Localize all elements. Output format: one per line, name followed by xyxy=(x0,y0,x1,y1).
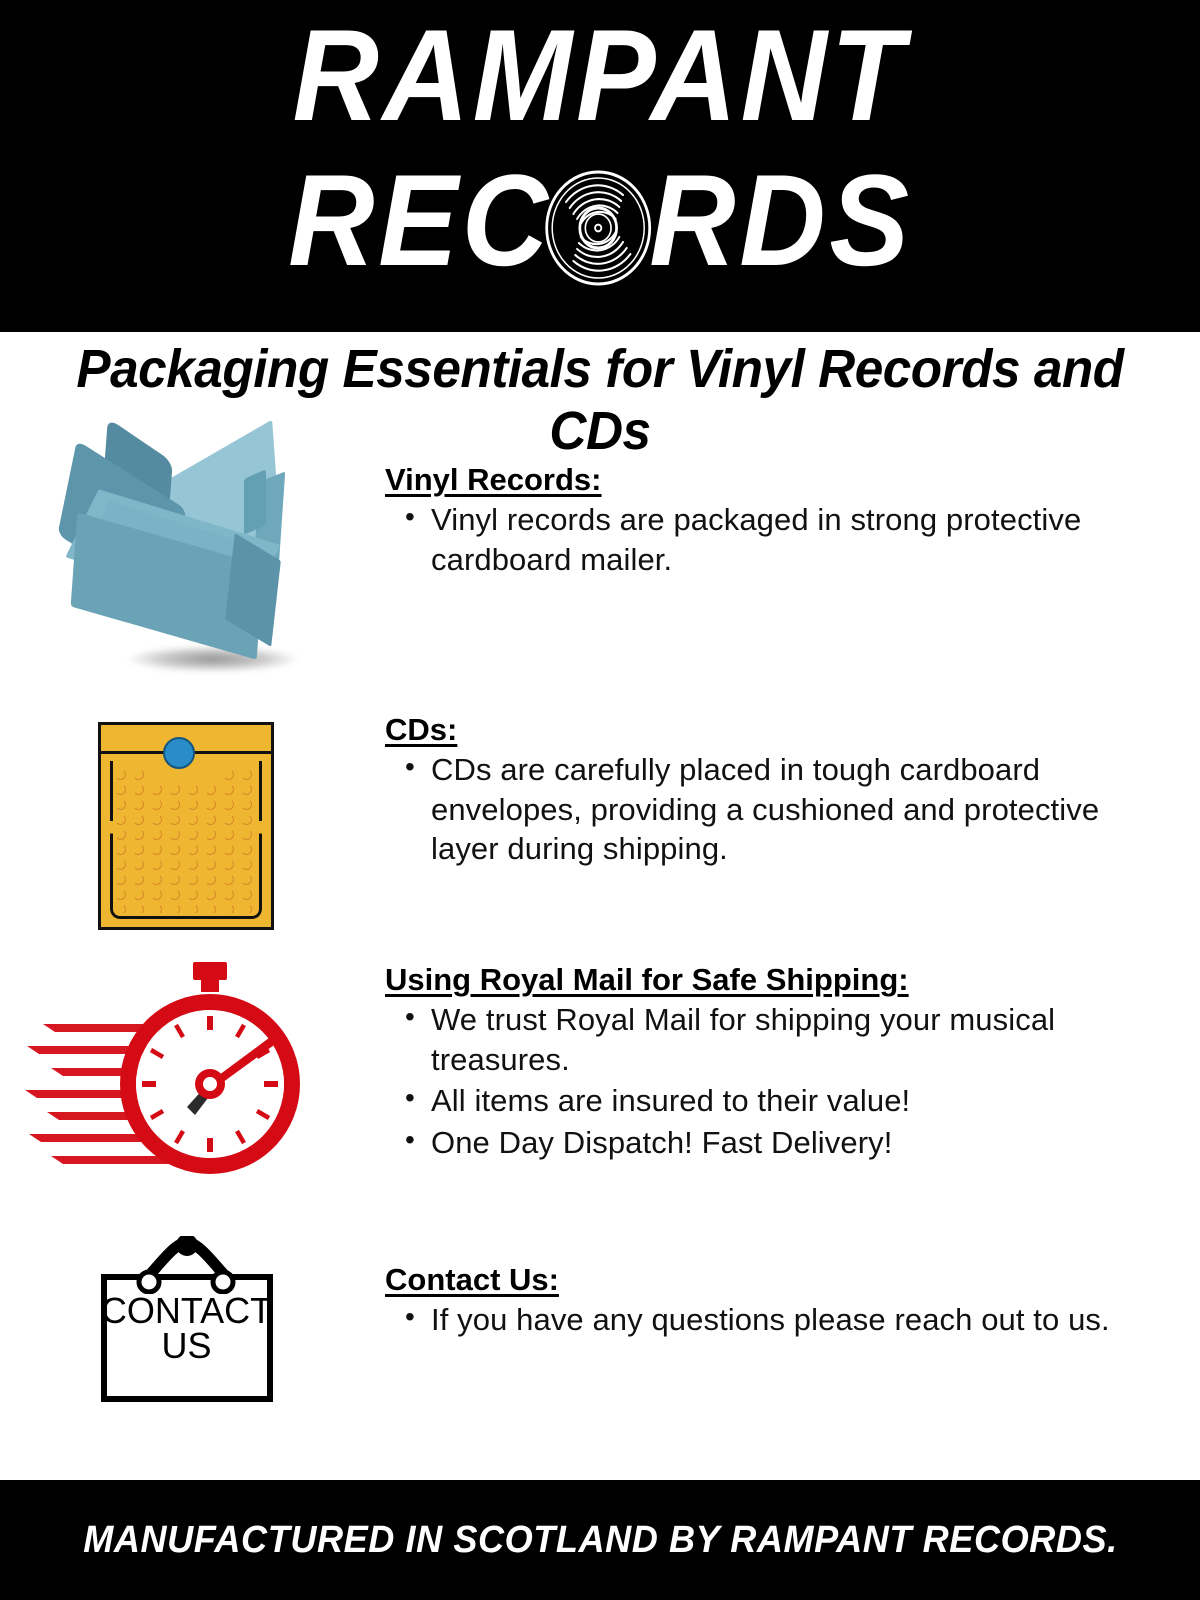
mailer-bubble-dot xyxy=(115,769,126,780)
list-item: Vinyl records are packaged in strong pro… xyxy=(431,500,1160,579)
sign-text-line-2: US xyxy=(101,1329,273,1364)
yellow-bubble-mailer-envelope-icon xyxy=(98,722,274,930)
section-heading-cds: CDs: xyxy=(385,712,1160,748)
hanging-contact-us-sign-icon: CONTACT US xyxy=(87,1220,287,1405)
section-cds-text: CDs: CDs are carefully placed in tough c… xyxy=(385,712,1200,871)
brand-name-line-2: REC xyxy=(0,140,1200,300)
list-item: We trust Royal Mail for shipping your mu… xyxy=(431,1000,1160,1079)
mailer-bubble-dot xyxy=(133,859,144,870)
mailer-bubble-dot xyxy=(133,889,144,900)
mailer-bubble-dot xyxy=(187,814,198,825)
mailer-bubble-dot xyxy=(241,904,252,913)
mailer-bubble-dot xyxy=(187,859,198,870)
mailer-bubble-dot xyxy=(151,829,162,840)
section-contact-us: CONTACT US Contact Us: If you have any q… xyxy=(0,1262,1200,1405)
mailer-bubble-dot xyxy=(241,814,252,825)
red-speed-stopwatch-icon xyxy=(25,954,315,1184)
mailer-bubble-dot xyxy=(241,829,252,840)
open-cardboard-mailer-box-icon xyxy=(38,434,338,684)
mailer-bubble-dot xyxy=(223,814,234,825)
mailer-bubble-dot xyxy=(223,799,234,810)
mailer-bubble-dot xyxy=(223,829,234,840)
mailer-bubble-dot xyxy=(187,829,198,840)
mailer-bubble-dot xyxy=(133,814,144,825)
mailer-bubble-dot xyxy=(115,889,126,900)
vinyl-record-icon xyxy=(544,169,653,287)
mailer-bubble-dot xyxy=(169,799,180,810)
sign-text-line-1: CONTACT xyxy=(101,1294,273,1329)
mailer-bubble-dot xyxy=(205,844,216,855)
mailer-bubble-dot xyxy=(223,904,234,913)
list-item: One Day Dispatch! Fast Delivery! xyxy=(431,1123,1160,1163)
mailer-bubble-dot xyxy=(241,889,252,900)
mailer-bubble-dot xyxy=(115,799,126,810)
mailer-bubble-dot xyxy=(115,814,126,825)
mailer-bubble-dot xyxy=(169,889,180,900)
mailer-bubble-dot xyxy=(205,814,216,825)
mailer-bubble-dot xyxy=(205,889,216,900)
list-item: All items are insured to their value! xyxy=(431,1081,1160,1121)
mailer-bubble-dot xyxy=(151,844,162,855)
mailer-bubble-dot xyxy=(241,859,252,870)
mailer-bubble-dot xyxy=(133,844,144,855)
section-cds: CDs: CDs are carefully placed in tough c… xyxy=(0,712,1200,930)
mailer-bubble-grid xyxy=(113,767,259,913)
mailer-bubble-dot xyxy=(169,859,180,870)
section-bullets-vinyl-records: Vinyl records are packaged in strong pro… xyxy=(385,500,1160,579)
footer-text: MANUFACTURED IN SCOTLAND BY RAMPANT RECO… xyxy=(83,1519,1118,1562)
mailer-bubble-dot xyxy=(187,889,198,900)
mailer-bubble-dot xyxy=(133,829,144,840)
brand-header-band: RAMPANT REC xyxy=(0,0,1200,332)
section-bullets-royal-mail: We trust Royal Mail for shipping your mu… xyxy=(385,1000,1160,1163)
list-item: CDs are carefully placed in tough cardbo… xyxy=(431,750,1160,869)
section-bullets-cds: CDs are carefully placed in tough cardbo… xyxy=(385,750,1160,869)
mailer-bubble-dot xyxy=(169,814,180,825)
mailer-bubble-dot xyxy=(115,904,126,913)
mailer-bubble-dot xyxy=(151,874,162,885)
mailer-bubble-dot xyxy=(223,859,234,870)
box-drop-shadow xyxy=(128,646,298,672)
mailer-bubble-dot xyxy=(133,769,144,780)
section-bullets-contact-us: If you have any questions please reach o… xyxy=(385,1300,1160,1340)
mailer-bubble-dot xyxy=(223,889,234,900)
mailer-bubble-dot xyxy=(241,844,252,855)
mailer-bubble-dot xyxy=(115,874,126,885)
mailer-bubble-dot xyxy=(187,799,198,810)
mailer-bubble-dot xyxy=(205,799,216,810)
mailer-bubble-dot xyxy=(241,874,252,885)
mailer-blue-seal-dot xyxy=(163,737,195,769)
mailer-bubble-dot xyxy=(169,829,180,840)
box-right-flap xyxy=(244,469,266,535)
section-vinyl-records: Vinyl Records: Vinyl records are package… xyxy=(0,462,1200,684)
brand-name-line-1: RAMPANT xyxy=(48,10,1152,140)
mailer-bubble-dot xyxy=(133,784,144,795)
mailer-bubble-dot xyxy=(187,874,198,885)
mailer-bubble-dot xyxy=(169,784,180,795)
section-vinyl-records-art xyxy=(0,462,385,684)
mailer-bubble-dot xyxy=(151,859,162,870)
section-royal-mail: Using Royal Mail for Safe Shipping: We t… xyxy=(0,962,1200,1184)
mailer-bubble-dot xyxy=(115,844,126,855)
mailer-bubble-dot xyxy=(223,844,234,855)
brand-name-line-2-suffix: RDS xyxy=(649,155,913,285)
mailer-bubble-dot xyxy=(187,904,198,913)
section-heading-contact-us: Contact Us: xyxy=(385,1262,1160,1298)
mailer-bubble-dot xyxy=(133,874,144,885)
mailer-bubble-dot xyxy=(241,784,252,795)
mailer-bubble-dot xyxy=(133,904,144,913)
mailer-bubble-dot xyxy=(133,799,144,810)
mailer-bubble-dot xyxy=(205,784,216,795)
mailer-bubble-dot xyxy=(151,784,162,795)
mailer-bubble-dot xyxy=(151,814,162,825)
section-contact-us-text: Contact Us: If you have any questions pl… xyxy=(385,1262,1200,1342)
mailer-bubble-dot xyxy=(151,889,162,900)
section-contact-us-art: CONTACT US xyxy=(0,1262,385,1405)
mailer-bubble-dot xyxy=(187,844,198,855)
mailer-bubble-dot xyxy=(115,784,126,795)
mailer-bubble-dot xyxy=(205,829,216,840)
section-heading-royal-mail: Using Royal Mail for Safe Shipping: xyxy=(385,962,1160,998)
mailer-bubble-dot xyxy=(205,859,216,870)
mailer-bubble-dot xyxy=(115,829,126,840)
section-royal-mail-art xyxy=(0,962,385,1184)
section-cds-art xyxy=(0,712,385,930)
mailer-bubble-dot xyxy=(205,874,216,885)
mailer-bubble-dot xyxy=(241,769,252,780)
mailer-bubble-dot xyxy=(169,844,180,855)
brand-name-line-2-prefix: REC xyxy=(288,155,552,285)
mailer-bubble-dot xyxy=(187,784,198,795)
section-heading-vinyl-records: Vinyl Records: xyxy=(385,462,1160,498)
sign-text: CONTACT US xyxy=(101,1294,273,1363)
mailer-bubble-dot xyxy=(169,904,180,913)
section-vinyl-records-text: Vinyl Records: Vinyl records are package… xyxy=(385,462,1200,581)
mailer-bubble-dot xyxy=(205,904,216,913)
list-item: If you have any questions please reach o… xyxy=(431,1300,1160,1340)
mailer-bubble-dot xyxy=(151,904,162,913)
mailer-bubble-dot xyxy=(223,784,234,795)
section-royal-mail-text: Using Royal Mail for Safe Shipping: We t… xyxy=(385,962,1200,1165)
mailer-bubble-dot xyxy=(115,859,126,870)
mailer-bubble-dot xyxy=(223,874,234,885)
footer-band: MANUFACTURED IN SCOTLAND BY RAMPANT RECO… xyxy=(0,1480,1200,1600)
mailer-bubble-dot xyxy=(223,769,234,780)
mailer-bubble-dot xyxy=(151,799,162,810)
mailer-bubble-dot xyxy=(241,799,252,810)
mailer-bubble-dot xyxy=(169,874,180,885)
